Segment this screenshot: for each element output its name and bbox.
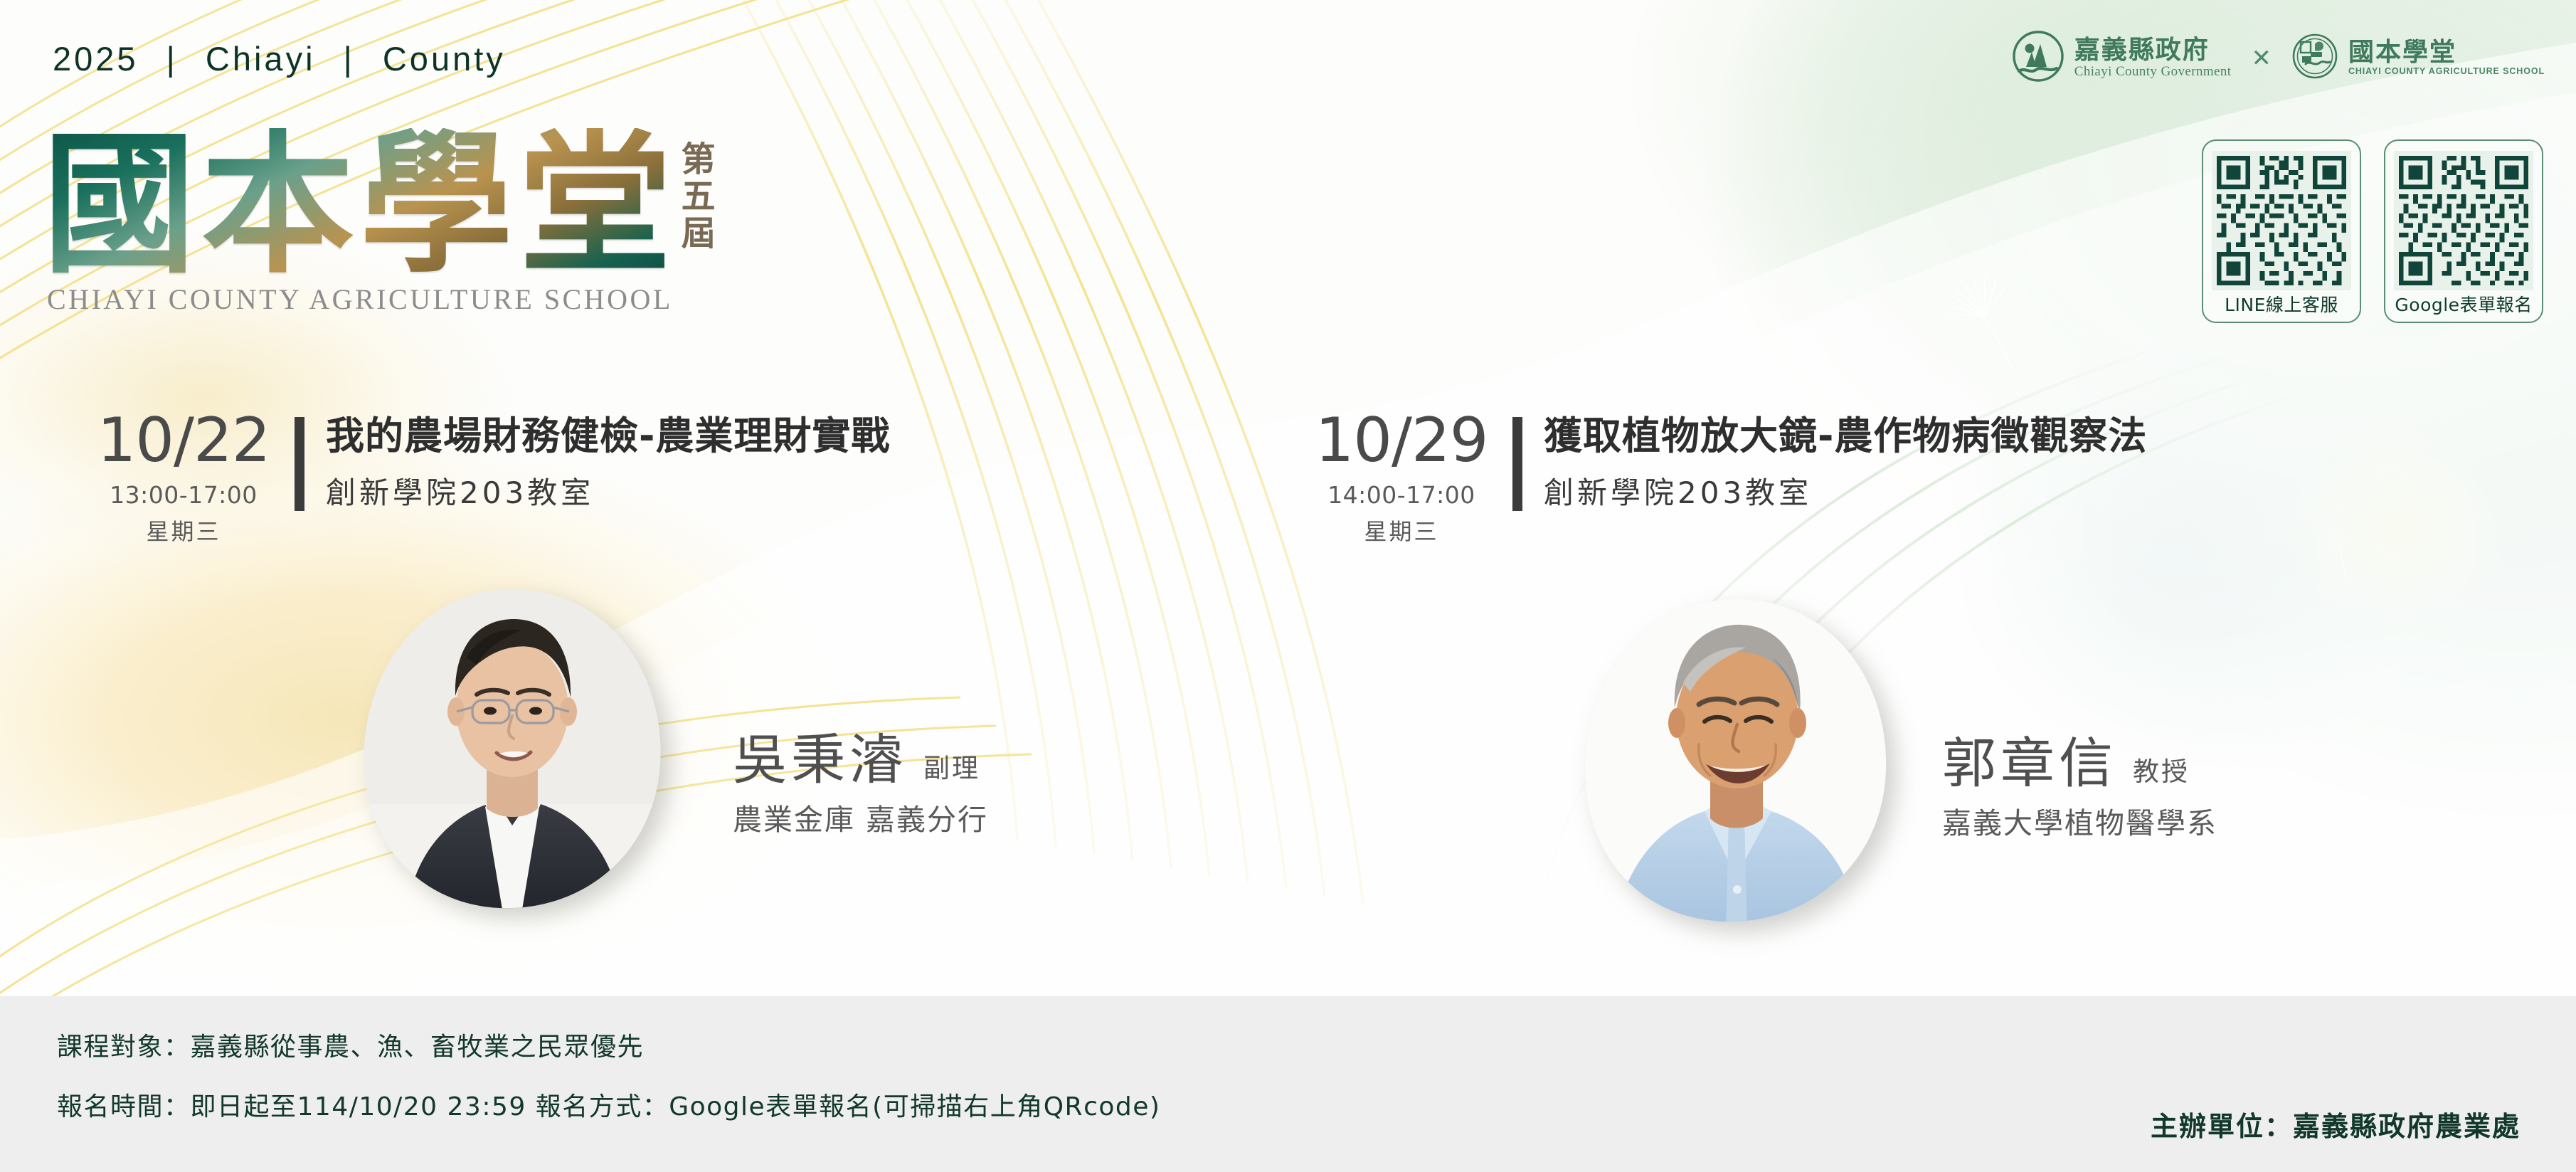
poster-canvas: 2025 | Chiayi | County 國本學堂 CHIAYI COUNT…: [0, 0, 2576, 1172]
course-1-date-block: 10/22 13:00-17:00 星期三: [77, 411, 290, 547]
google-form-qr-code-icon[interactable]: [2394, 151, 2533, 290]
speaker-2-text: 郭章信 教授 嘉義大學植物醫學系: [1942, 737, 2217, 840]
footer-audience: 課程對象：嘉義縣從事農、漁、畜牧業之民眾優先: [57, 1033, 1160, 1062]
brand-agriculture-school: 國本學堂 CHIAYI COUNTY AGRICULTURE SCHOOL: [2291, 33, 2545, 83]
line-qr-code-icon[interactable]: [2212, 151, 2351, 290]
course-entry-1: 10/22 13:00-17:00 星期三 我的農場財務健檢-農業理財實戰 創新…: [77, 411, 890, 547]
footer-bar: 課程對象：嘉義縣從事農、漁、畜牧業之民眾優先 報名時間：即日起至114/10/2…: [0, 996, 2576, 1172]
speaker-2-photo: [1558, 584, 1914, 932]
qr-card-google-form[interactable]: Google表單報名: [2384, 139, 2543, 323]
speaker-block-2: 郭章信 教授 嘉義大學植物醫學系: [1558, 584, 1914, 932]
brand-cross-icon: ✕: [2249, 46, 2273, 70]
course-1-location: 創新學院203教室: [326, 477, 890, 510]
speaker-2-role: 教授: [2133, 759, 2190, 791]
course-2-weekday: 星期三: [1295, 514, 1508, 547]
course-2-date-block: 10/29 14:00-17:00 星期三: [1295, 411, 1508, 547]
logo-chinese-title: 國本學堂: [43, 128, 677, 281]
course-2-date: 10/29: [1295, 411, 1508, 470]
speaker-1-name: 吳秉濬: [733, 733, 908, 787]
course-2-accent-bar: [1512, 417, 1522, 511]
kicker-city: Chiayi: [206, 40, 316, 78]
kicker-line: 2025 | Chiayi | County: [53, 39, 506, 78]
course-1-body: 我的農場財務健檢-農業理財實戰 創新學院203教室: [326, 411, 890, 510]
kicker-year: 2025: [53, 40, 139, 78]
course-1-accent-bar: [295, 417, 304, 511]
brand-gov-name-en: Chiayi County Government: [2074, 65, 2232, 78]
speaker-1-org: 農業金庫 嘉義分行: [733, 804, 988, 836]
course-1-date: 10/22: [77, 411, 290, 470]
brand-gov-text: 嘉義縣政府 Chiayi County Government: [2074, 38, 2232, 78]
qr-label-google-form: Google表單報名: [2395, 295, 2532, 316]
brand-chiayi-county-government: 嘉義縣政府 Chiayi County Government: [2012, 30, 2232, 86]
course-2-body: 獲取植物放大鏡-農作物病徵觀察法 創新學院203教室: [1544, 411, 2147, 510]
footer-organizer: 主辦單位：嘉義縣政府農業處: [2151, 1104, 2521, 1144]
course-2-title: 獲取植物放大鏡-農作物病徵觀察法: [1544, 414, 2147, 458]
speaker-1-role: 副理: [923, 755, 980, 787]
qr-label-line: LINE線上客服: [2225, 295, 2338, 316]
chiayi-county-agriculture-school-emblem-icon: [2291, 33, 2338, 83]
edition-label: 第五屆: [674, 141, 715, 252]
kicker-region: County: [383, 40, 506, 78]
brand-gov-name-cn: 嘉義縣政府: [2074, 38, 2210, 63]
course-1-weekday: 星期三: [77, 514, 290, 547]
qr-code-row: LINE線上客服: [2202, 139, 2543, 323]
course-2-time: 14:00-17:00: [1295, 482, 1508, 509]
course-entry-2: 10/29 14:00-17:00 星期三 獲取植物放大鏡-農作物病徵觀察法 創…: [1295, 411, 2147, 547]
brand-logo-block: 國本學堂 CHIAYI COUNTY AGRICULTURE SCHOOL: [43, 128, 677, 316]
course-2-location: 創新學院203教室: [1544, 477, 2147, 510]
speaker-1-text: 吳秉濬 副理 農業金庫 嘉義分行: [733, 733, 988, 836]
partner-brand-bar: 嘉義縣政府 Chiayi County Government ✕ 國本學堂: [2012, 30, 2545, 86]
kicker-separator-1: |: [151, 39, 194, 78]
qr-card-line[interactable]: LINE線上客服: [2202, 139, 2361, 323]
speaker-2-name: 郭章信: [1942, 737, 2117, 791]
chiayi-county-government-emblem-icon: [2012, 30, 2064, 86]
speaker-2-org: 嘉義大學植物醫學系: [1942, 808, 2217, 840]
brand-school-name-cn: 國本學堂: [2348, 40, 2456, 65]
footer-registration: 報名時間：即日起至114/10/20 23:59 報名方式：Google表單報名…: [57, 1093, 1160, 1121]
course-1-title: 我的農場財務健檢-農業理財實戰: [326, 414, 890, 458]
kicker-separator-2: |: [328, 39, 371, 78]
course-1-time: 13:00-17:00: [77, 482, 290, 509]
footer-left-text: 課程對象：嘉義縣從事農、漁、畜牧業之民眾優先 報名時間：即日起至114/10/2…: [57, 1033, 1160, 1121]
speaker-1-photo: [334, 569, 690, 918]
brand-school-name-en: CHIAYI COUNTY AGRICULTURE SCHOOL: [2348, 67, 2545, 76]
brand-school-text: 國本學堂 CHIAYI COUNTY AGRICULTURE SCHOOL: [2348, 40, 2545, 76]
speaker-block-1: 吳秉濬 副理 農業金庫 嘉義分行: [334, 569, 690, 918]
